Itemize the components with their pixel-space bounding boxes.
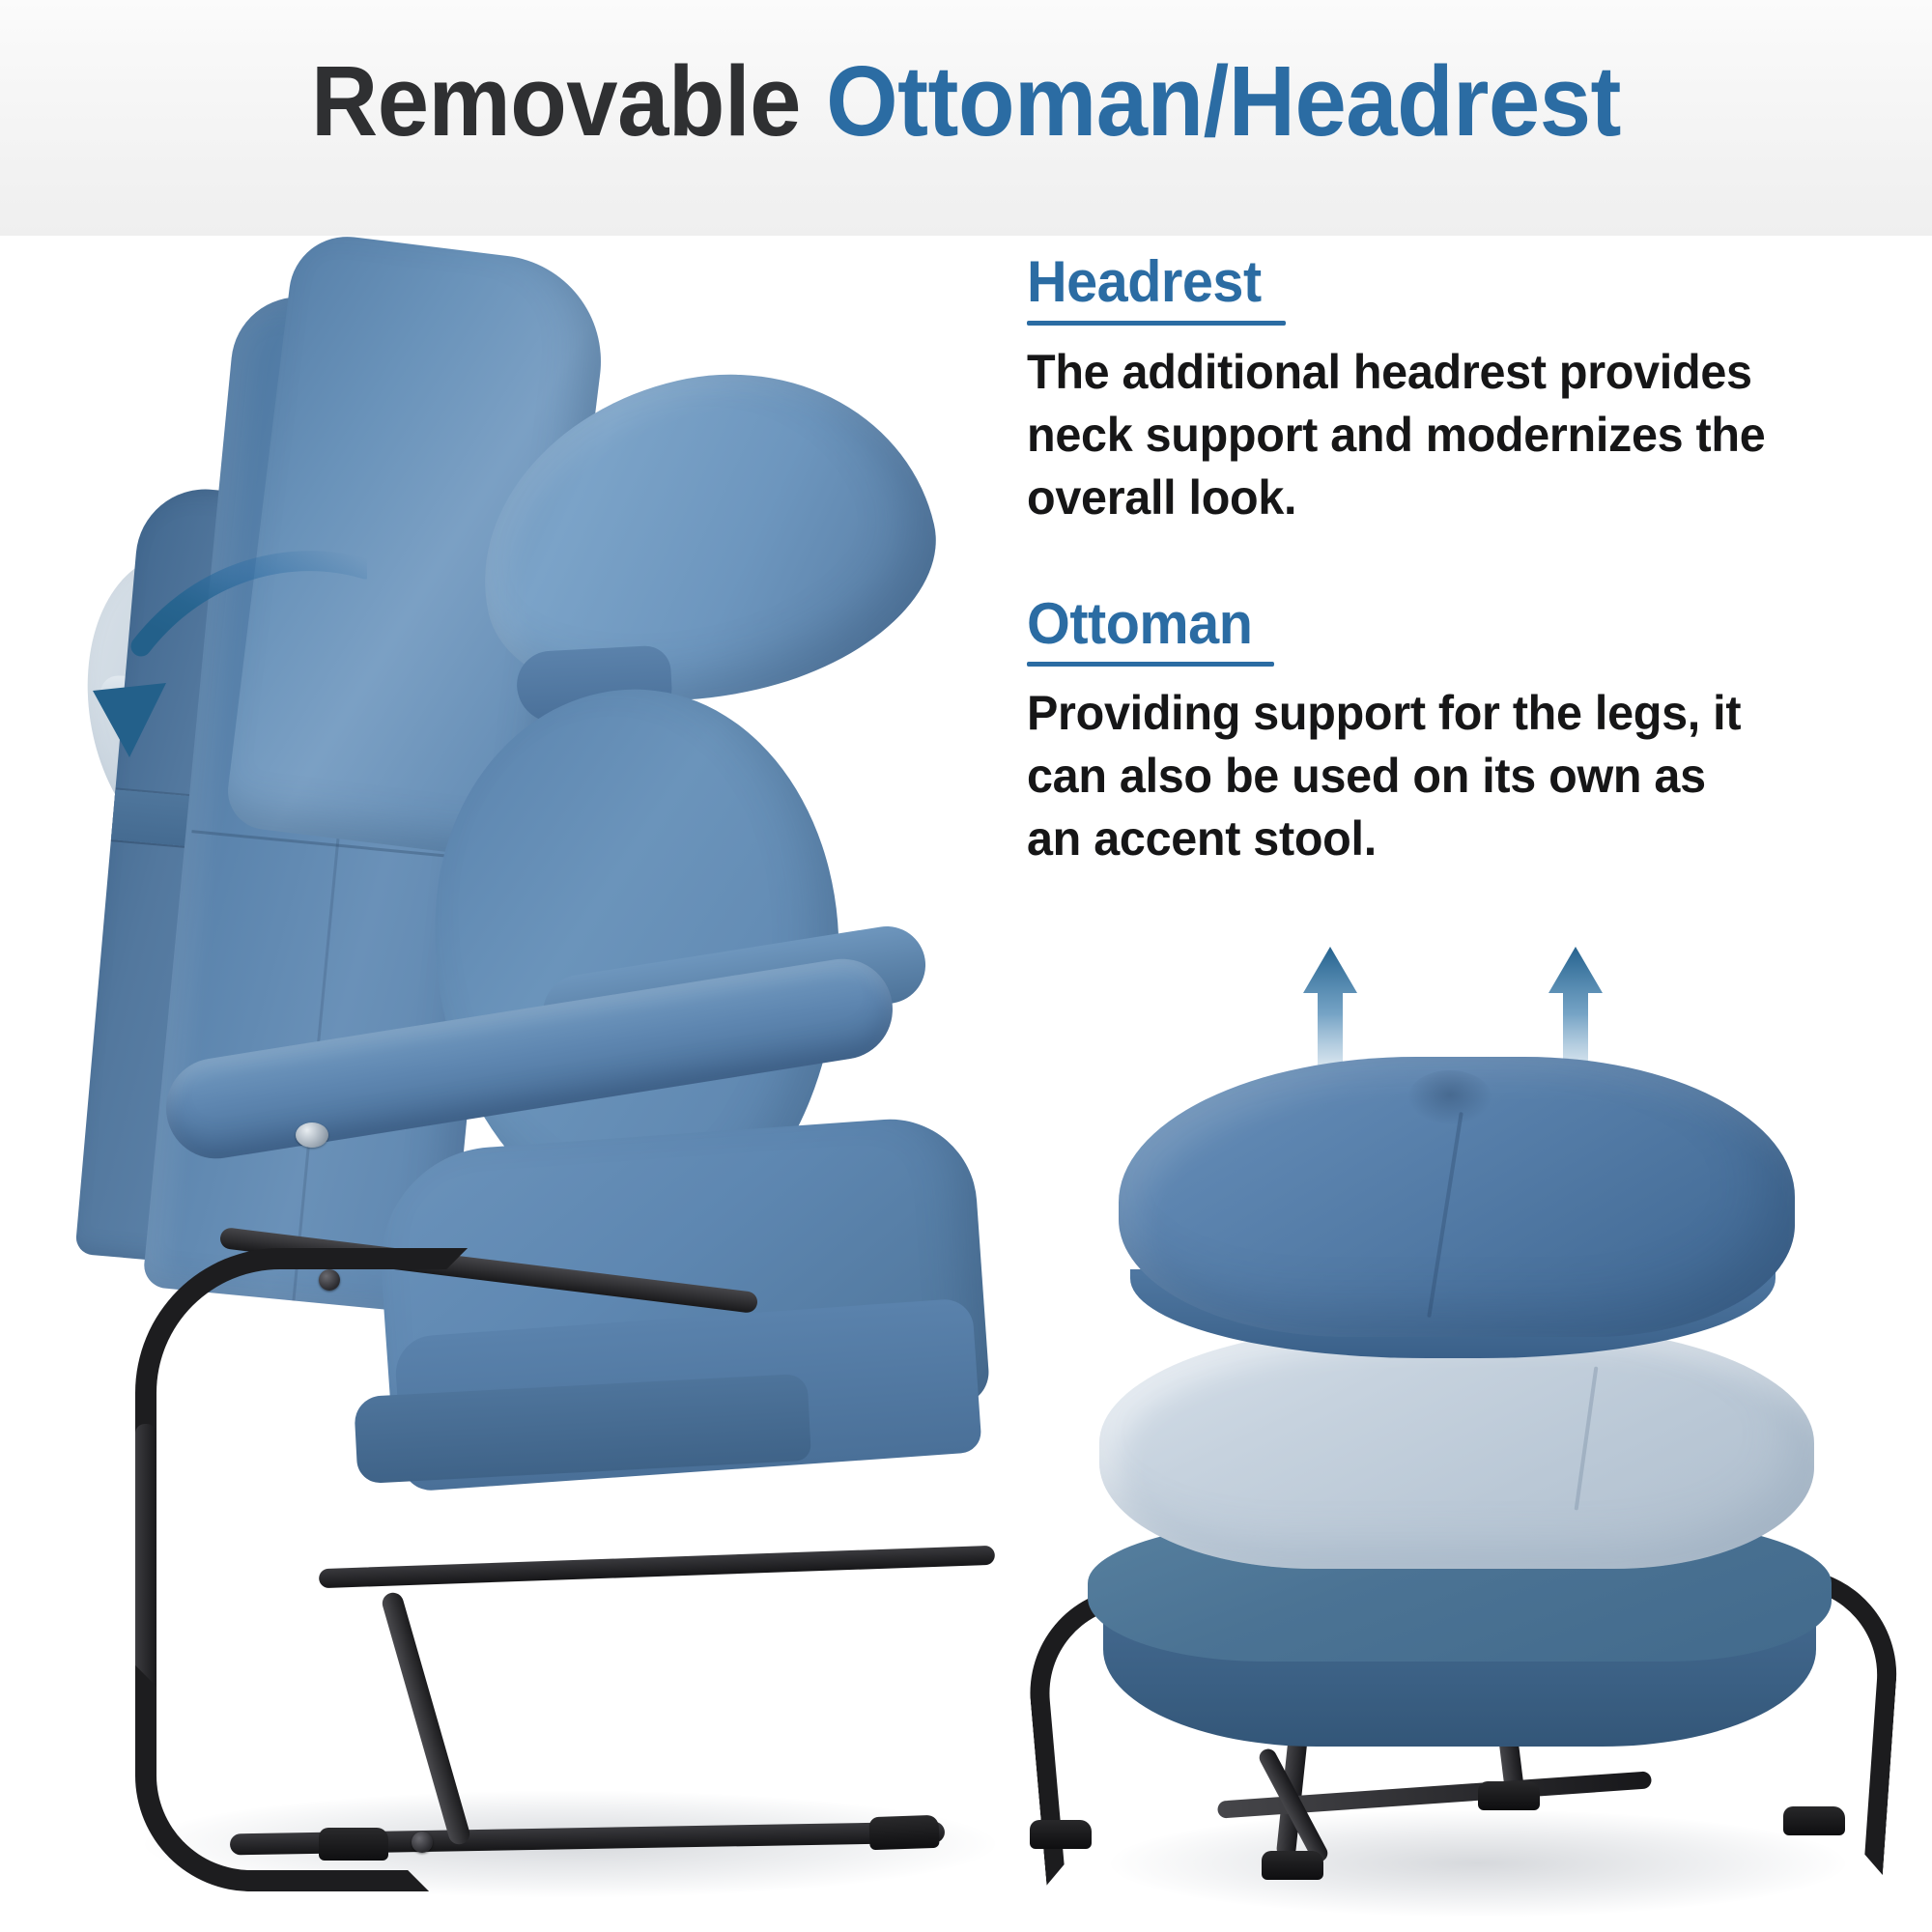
ottoman-photo [995,912,1932,1932]
chair-foot-rear [868,1815,939,1850]
section-body-ottoman: Providing support for the legs, it can a… [1027,682,1767,870]
infographic-page: Removable Ottoman/Headrest [0,0,1932,1932]
content-area: Headrest The additional headrest provide… [0,236,1932,1932]
ottoman-foot-front [1262,1851,1323,1880]
feature-section-headrest: Headrest The additional headrest provide… [1027,251,1848,529]
section-heading-ottoman: Ottoman [1027,593,1252,655]
section-heading-headrest: Headrest [1027,251,1262,313]
chair-photo [0,236,995,1932]
page-title-part2: Ottoman/Headrest [826,45,1621,156]
armrest-pivot-bolt-icon [296,1122,328,1148]
ottoman-foot-right [1783,1806,1845,1835]
ottoman-light-cushion [1099,1327,1814,1569]
ottoman-illustration [995,912,1932,1932]
chair-foot-front [319,1828,388,1861]
feature-text-column: Headrest The additional headrest provide… [1027,251,1848,870]
frame-pivot-screw-icon [412,1832,433,1853]
section-body-headrest: The additional headrest provides neck su… [1027,341,1767,529]
ottoman-foot-rear [1478,1781,1540,1810]
chair-illustration [0,236,995,1932]
feature-section-ottoman: Ottoman Providing support for the legs, … [1027,593,1848,871]
ottoman-tuft-dimple [1408,1070,1492,1124]
page-title: Removable Ottoman/Headrest [68,46,1864,156]
chair-frame-cantilever [135,1248,468,1571]
ottoman-top-cushion [1119,1057,1795,1337]
ottoman-tuft-seam [1427,1112,1463,1318]
page-title-part1: Removable [311,45,826,156]
section-underline-ottoman [1027,662,1274,667]
armrest-frame-screw-icon [319,1269,340,1291]
section-underline-headrest [1027,321,1286,326]
ottoman-foot-left [1030,1820,1092,1849]
